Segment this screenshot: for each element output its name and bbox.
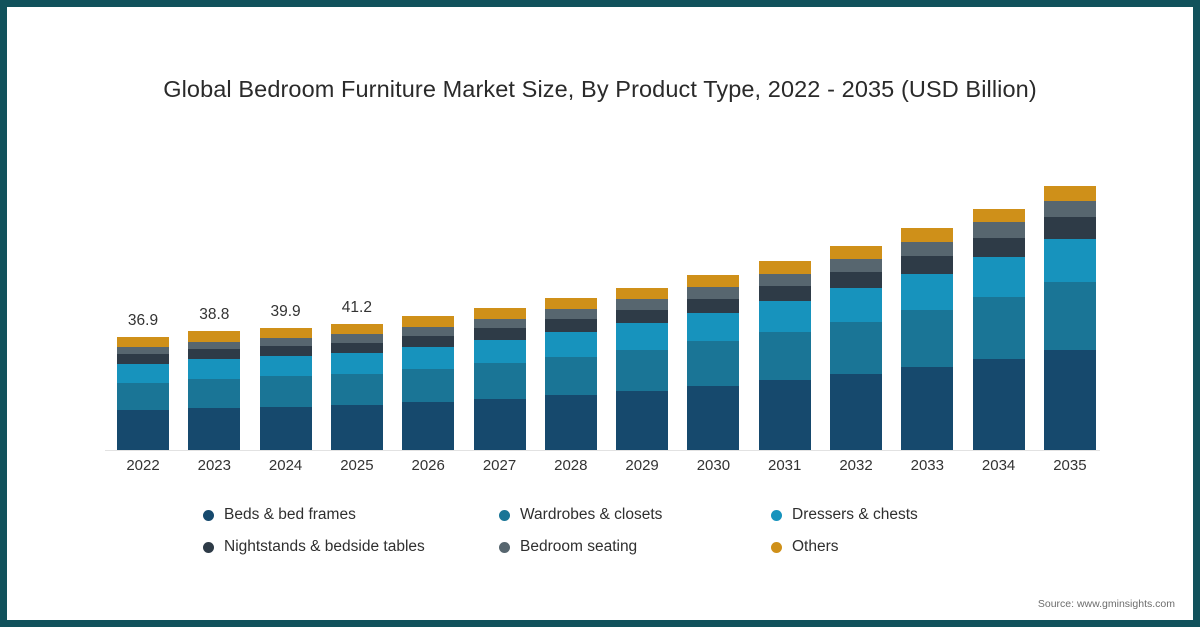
bar-segment[interactable] (331, 334, 383, 342)
bar-segment[interactable] (973, 222, 1025, 237)
bar-segment[interactable] (331, 405, 383, 451)
legend-label: Others (792, 538, 839, 556)
chart-canvas: Global Bedroom Furniture Market Size, By… (7, 7, 1193, 620)
bar-segment[interactable] (402, 327, 454, 336)
stacked-bar[interactable] (260, 328, 312, 451)
bar-segment[interactable] (474, 319, 526, 328)
legend-label: Nightstands & bedside tables (224, 538, 425, 556)
bar-segment[interactable] (1044, 350, 1096, 451)
bar-series-container: 36.938.839.941.2 (105, 127, 1100, 451)
stacked-bar[interactable] (830, 246, 882, 451)
bar-segment[interactable] (402, 336, 454, 347)
legend-item[interactable]: Bedroom seating (499, 538, 771, 556)
bar-segment[interactable] (687, 299, 739, 313)
bar-segment[interactable] (901, 367, 953, 451)
bar-segment[interactable] (759, 380, 811, 451)
x-axis-label: 2031 (759, 457, 811, 474)
bar-segment[interactable] (260, 346, 312, 356)
x-axis-label: 2033 (901, 457, 953, 474)
legend-swatch-icon (203, 510, 214, 521)
bar-value-label: 39.9 (271, 303, 301, 321)
bar-segment[interactable] (759, 301, 811, 332)
bar-segment[interactable] (1044, 239, 1096, 283)
bar-segment[interactable] (616, 288, 668, 300)
bar-segment[interactable] (117, 410, 169, 451)
bar-segment[interactable] (616, 299, 668, 309)
bar-segment[interactable] (117, 383, 169, 411)
legend-label: Beds & bed frames (224, 506, 356, 524)
bar-segment[interactable] (759, 261, 811, 273)
bar-segment[interactable] (402, 316, 454, 327)
chart-title: Global Bedroom Furniture Market Size, By… (7, 76, 1193, 103)
bar-segment[interactable] (687, 341, 739, 385)
bar-segment[interactable] (1044, 186, 1096, 201)
stacked-bar[interactable] (901, 228, 953, 451)
chart-figure: Global Bedroom Furniture Market Size, By… (0, 0, 1200, 627)
bar-segment[interactable] (973, 297, 1025, 359)
legend-swatch-icon (499, 510, 510, 521)
bar-segment[interactable] (545, 298, 597, 309)
bar-segment[interactable] (331, 343, 383, 353)
legend-label: Bedroom seating (520, 538, 637, 556)
bar-segment[interactable] (117, 354, 169, 364)
x-axis-label: 2034 (973, 457, 1025, 474)
x-axis-label: 2027 (474, 457, 526, 474)
legend-item[interactable]: Nightstands & bedside tables (203, 538, 499, 556)
legend-item[interactable]: Wardrobes & closets (499, 506, 771, 524)
bar-segment[interactable] (260, 356, 312, 376)
bar-segment[interactable] (188, 408, 240, 451)
x-axis-label: 2029 (616, 457, 668, 474)
bar-segment[interactable] (402, 347, 454, 369)
x-axis-label: 2023 (188, 457, 240, 474)
bar-segment[interactable] (188, 331, 240, 341)
bar-segment[interactable] (545, 319, 597, 332)
bar-segment[interactable] (188, 349, 240, 359)
stacked-bar[interactable] (545, 298, 597, 451)
legend-row: Beds & bed framesWardrobes & closetsDres… (203, 499, 963, 531)
bar-segment[interactable] (759, 274, 811, 286)
bar-segment[interactable] (830, 272, 882, 289)
bar-segment[interactable] (973, 359, 1025, 451)
bar-segment[interactable] (616, 310, 668, 323)
x-axis-label: 2028 (545, 457, 597, 474)
legend-item[interactable]: Dressers & chests (771, 506, 961, 524)
x-axis-label: 2024 (260, 457, 312, 474)
bar-segment[interactable] (117, 337, 169, 347)
x-axis-label: 2022 (117, 457, 169, 474)
bar-segment[interactable] (830, 322, 882, 374)
legend-swatch-icon (203, 542, 214, 553)
legend-row: Nightstands & bedside tablesBedroom seat… (203, 531, 963, 563)
stacked-bar[interactable] (188, 331, 240, 451)
stacked-bar[interactable] (117, 337, 169, 451)
bar-segment[interactable] (973, 257, 1025, 297)
bar-segment[interactable] (402, 402, 454, 451)
x-axis-ticks: 2022202320242025202620272028202920302031… (105, 457, 1100, 481)
legend-label: Wardrobes & closets (520, 506, 662, 524)
bar-segment[interactable] (474, 363, 526, 398)
bar-segment[interactable] (616, 391, 668, 451)
bar-segment[interactable] (901, 242, 953, 256)
bar-segment[interactable] (901, 310, 953, 366)
bar-segment[interactable] (331, 374, 383, 405)
stacked-bar[interactable] (402, 316, 454, 451)
stacked-bar[interactable] (616, 288, 668, 452)
bar-segment[interactable] (901, 228, 953, 242)
bar-segment[interactable] (331, 324, 383, 334)
bar-segment[interactable] (687, 386, 739, 451)
bar-segment[interactable] (830, 246, 882, 259)
bar-segment[interactable] (117, 347, 169, 354)
legend-label: Dressers & chests (792, 506, 918, 524)
bar-segment[interactable] (1044, 201, 1096, 218)
bar-segment[interactable] (687, 313, 739, 342)
bar-segment[interactable] (830, 288, 882, 322)
bar-segment[interactable] (188, 379, 240, 408)
legend-item[interactable]: Others (771, 538, 961, 556)
chart-legend: Beds & bed framesWardrobes & closetsDres… (203, 499, 963, 563)
bar-segment[interactable] (260, 328, 312, 338)
bar-value-label: 38.8 (199, 306, 229, 324)
axis-baseline (105, 450, 1100, 451)
bar-segment[interactable] (260, 407, 312, 451)
bar-segment[interactable] (759, 332, 811, 380)
bar-segment[interactable] (973, 209, 1025, 223)
bar-segment[interactable] (830, 259, 882, 272)
bar-segment[interactable] (188, 342, 240, 350)
bar-segment[interactable] (1044, 217, 1096, 238)
bar-segment[interactable] (188, 359, 240, 378)
stacked-bar[interactable] (331, 324, 383, 451)
x-axis-label: 2030 (687, 457, 739, 474)
bar-segment[interactable] (1044, 282, 1096, 350)
bar-segment[interactable] (616, 323, 668, 350)
x-axis-label: 2026 (402, 457, 454, 474)
bar-segment[interactable] (260, 338, 312, 346)
bar-segment[interactable] (474, 328, 526, 340)
stacked-bar[interactable] (1044, 186, 1096, 451)
bar-segment[interactable] (474, 308, 526, 319)
stacked-bar[interactable] (759, 261, 811, 451)
stacked-bar[interactable] (973, 209, 1025, 451)
legend-swatch-icon (771, 510, 782, 521)
bar-segment[interactable] (545, 395, 597, 451)
stacked-bar[interactable] (687, 275, 739, 451)
bar-segment[interactable] (331, 353, 383, 374)
bar-segment[interactable] (545, 332, 597, 357)
bar-segment[interactable] (402, 369, 454, 402)
bar-segment[interactable] (901, 274, 953, 310)
bar-segment[interactable] (545, 357, 597, 395)
plot-area: 36.938.839.941.2 (105, 127, 1100, 451)
bar-segment[interactable] (474, 399, 526, 451)
legend-item[interactable]: Beds & bed frames (203, 506, 499, 524)
bar-segment[interactable] (759, 286, 811, 301)
stacked-bar[interactable] (474, 308, 526, 451)
bar-segment[interactable] (616, 350, 668, 391)
bar-segment[interactable] (260, 376, 312, 406)
bar-segment[interactable] (973, 238, 1025, 257)
bar-segment[interactable] (545, 309, 597, 319)
bar-segment[interactable] (901, 256, 953, 274)
legend-swatch-icon (499, 542, 510, 553)
bar-segment[interactable] (474, 340, 526, 363)
bar-segment[interactable] (687, 275, 739, 287)
bar-segment[interactable] (830, 374, 882, 451)
bar-value-label: 41.2 (342, 299, 372, 317)
legend-swatch-icon (771, 542, 782, 553)
x-axis-label: 2025 (331, 457, 383, 474)
x-axis-label: 2035 (1044, 457, 1096, 474)
bar-value-label: 36.9 (128, 312, 158, 330)
bar-segment[interactable] (117, 364, 169, 383)
source-note: Source: www.gminsights.com (1038, 598, 1175, 610)
x-axis-label: 2032 (830, 457, 882, 474)
bar-segment[interactable] (687, 287, 739, 298)
